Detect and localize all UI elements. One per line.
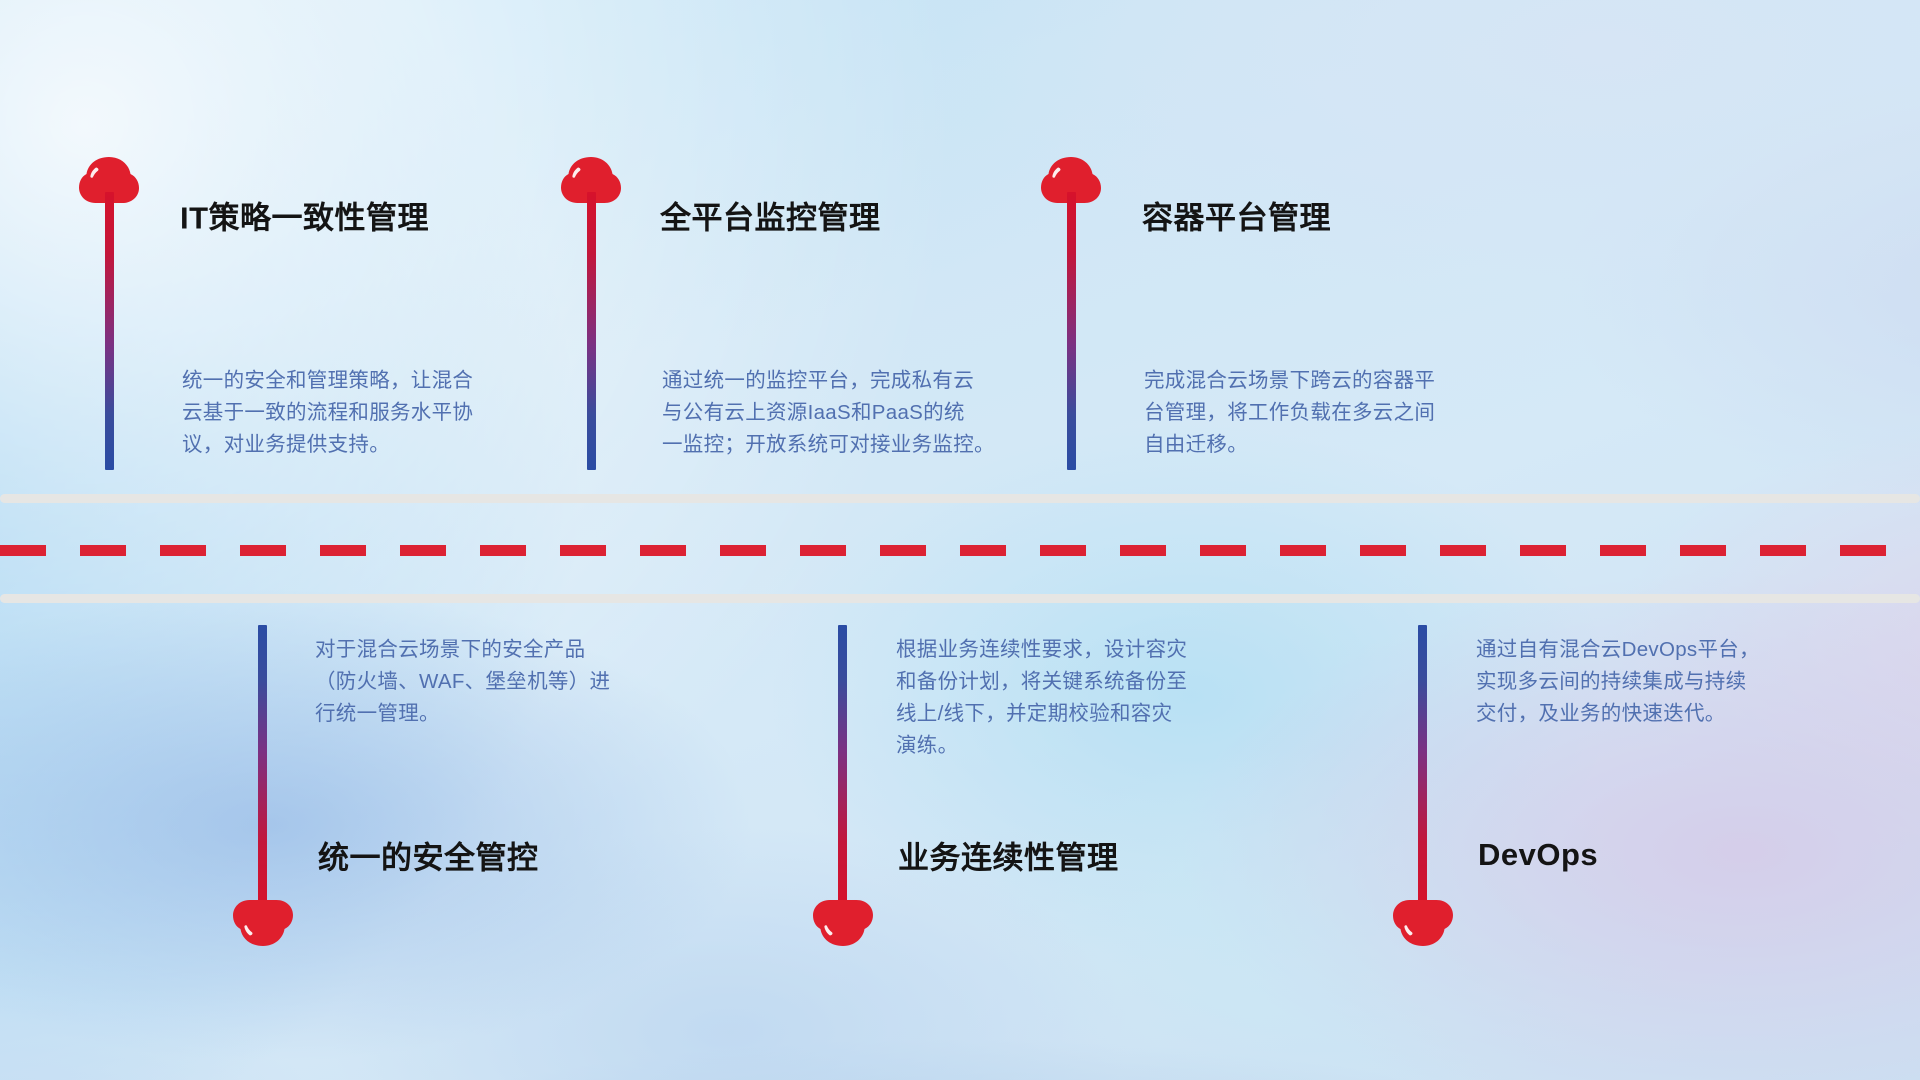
body-line: （防火墙、WAF、堡垒机等）进	[315, 666, 610, 698]
divider-line-top	[0, 494, 1920, 503]
body-line: 议，对业务提供支持。	[182, 429, 473, 461]
body-line: 云基于一致的流程和服务水平协	[182, 397, 473, 429]
body-line: 对于混合云场景下的安全产品	[315, 634, 610, 666]
body-line: 完成混合云场景下跨云的容器平	[1144, 365, 1435, 397]
body-line: 实现多云间的持续集成与持续	[1476, 666, 1760, 698]
body-line: 通过自有混合云DevOps平台，	[1476, 634, 1760, 666]
bottom-node-2-title: 业务连续性管理	[898, 833, 1119, 878]
bottom-node-1-body: 对于混合云场景下的安全产品 （防火墙、WAF、堡垒机等）进 行统一管理。	[315, 634, 610, 730]
bottom-node-3-body: 通过自有混合云DevOps平台， 实现多云间的持续集成与持续 交付，及业务的快速…	[1476, 634, 1760, 730]
connector-stem	[105, 192, 114, 470]
body-line: 根据业务连续性要求，设计容灾	[896, 634, 1187, 666]
cloud-icon	[232, 898, 294, 948]
body-line: 与公有云上资源IaaS和PaaS的统	[662, 397, 995, 429]
body-line: 自由迁移。	[1144, 429, 1435, 461]
bottom-node-1-title: 统一的安全管控	[318, 833, 539, 878]
bottom-node-3-title: DevOps	[1478, 837, 1598, 873]
body-line: 行统一管理。	[315, 698, 610, 730]
connector-stem	[838, 625, 847, 905]
body-line: 统一的安全和管理策略，让混合	[182, 365, 473, 397]
body-line: 通过统一的监控平台，完成私有云	[662, 365, 995, 397]
connector-stem	[587, 192, 596, 470]
body-line: 演练。	[896, 730, 1187, 762]
body-line: 台管理，将工作负载在多云之间	[1144, 397, 1435, 429]
bottom-node-2-body: 根据业务连续性要求，设计容灾 和备份计划，将关键系统备份至 线上/线下，并定期校…	[896, 634, 1187, 762]
top-node-3-body: 完成混合云场景下跨云的容器平 台管理，将工作负载在多云之间 自由迁移。	[1144, 365, 1435, 461]
top-node-1-title: IT策略一致性管理	[180, 193, 429, 238]
body-line: 和备份计划，将关键系统备份至	[896, 666, 1187, 698]
top-node-1-body: 统一的安全和管理策略，让混合 云基于一致的流程和服务水平协 议，对业务提供支持。	[182, 365, 473, 461]
body-line: 线上/线下，并定期校验和容灾	[896, 698, 1187, 730]
top-node-2-title: 全平台监控管理	[660, 193, 881, 238]
divider-dashed-red	[0, 545, 1920, 556]
body-line: 一监控；开放系统可对接业务监控。	[662, 429, 995, 461]
divider-line-bottom	[0, 594, 1920, 603]
cloud-icon	[1392, 898, 1454, 948]
connector-stem	[1418, 625, 1427, 905]
cloud-icon	[812, 898, 874, 948]
connector-stem	[1067, 192, 1076, 470]
top-node-3-title: 容器平台管理	[1142, 193, 1331, 238]
body-line: 交付，及业务的快速迭代。	[1476, 698, 1760, 730]
connector-stem	[258, 625, 267, 905]
top-node-2-body: 通过统一的监控平台，完成私有云 与公有云上资源IaaS和PaaS的统 一监控；开…	[662, 365, 995, 461]
